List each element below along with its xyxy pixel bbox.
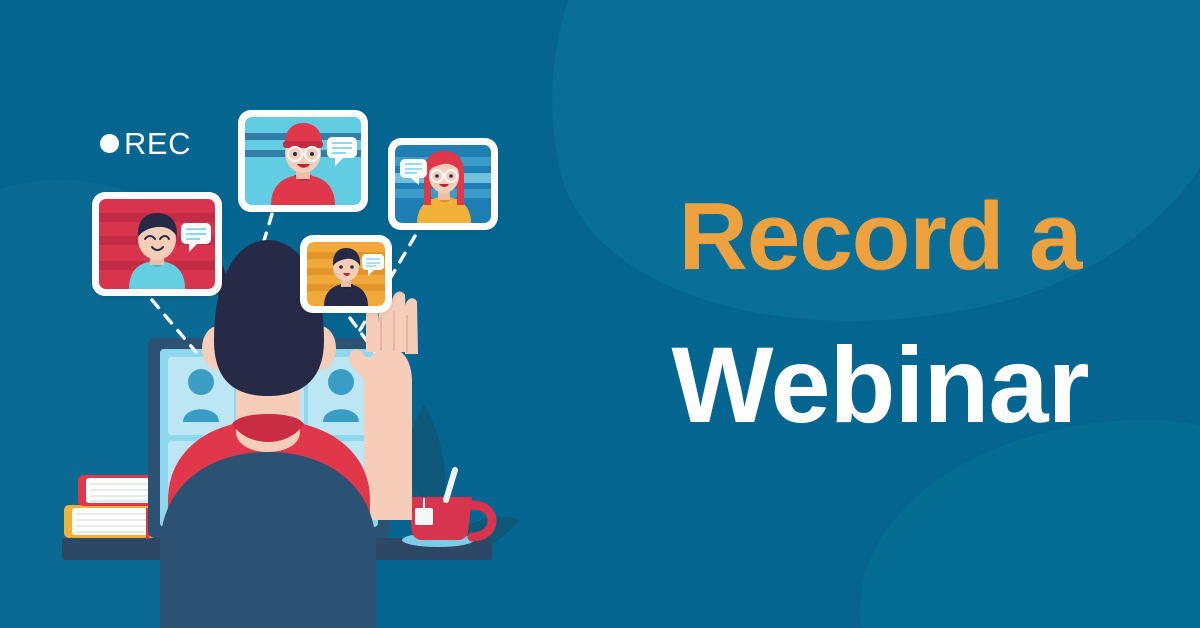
video-card-top-art: [245, 117, 361, 205]
headline-block: Record a Webinar: [560, 0, 1200, 628]
rec-label: REC: [124, 128, 191, 159]
video-card-left-art: [99, 199, 215, 289]
poster-canvas: REC Record a Webinar: [0, 0, 1200, 628]
illustration-svg: [0, 0, 560, 628]
video-card-center-inner: [307, 242, 385, 306]
video-card-top[interactable]: [238, 110, 368, 212]
record-dot-icon: [100, 134, 119, 153]
video-card-left-inner: [99, 199, 215, 289]
video-card-center-art: [307, 242, 385, 306]
video-card-right-art: [395, 145, 491, 223]
video-card-top-inner: [245, 117, 361, 205]
video-card-right-inner: [395, 145, 491, 223]
webinar-illustration: [0, 0, 560, 628]
headline-line-1: Record a: [679, 191, 1082, 282]
headline-line-2: Webinar: [671, 334, 1088, 437]
video-card-right[interactable]: [388, 138, 498, 230]
office-chair: [160, 452, 376, 628]
rec-badge: REC: [100, 128, 191, 159]
video-card-left[interactable]: [92, 192, 222, 296]
video-card-center[interactable]: [300, 235, 392, 313]
